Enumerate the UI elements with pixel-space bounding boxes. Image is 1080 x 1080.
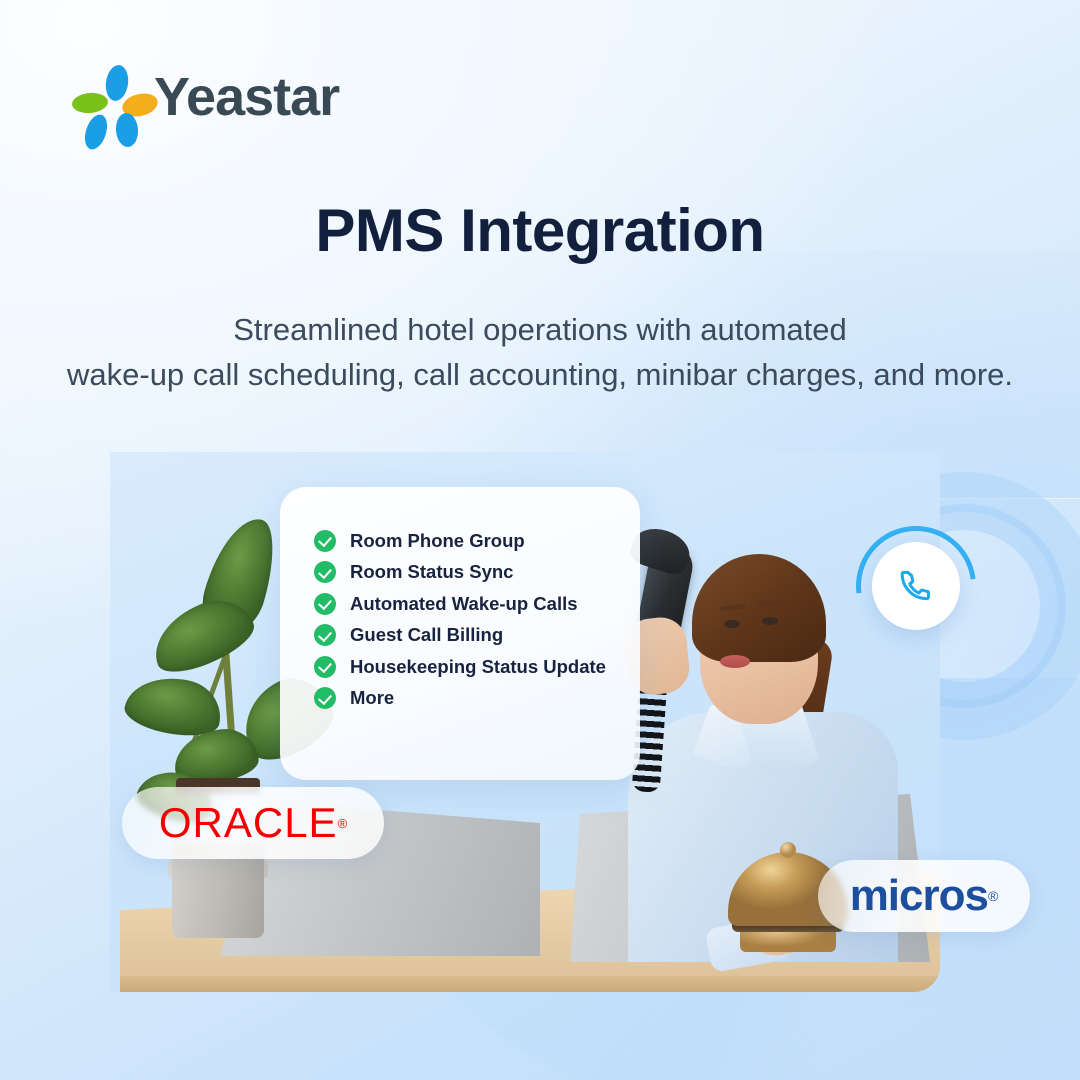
- list-item: Guest Call Billing: [314, 620, 640, 651]
- subtitle-line-1: Streamlined hotel operations with automa…: [0, 308, 1080, 353]
- eye-right: [762, 617, 778, 625]
- promo-graphic: Yeastar PMS Integration Streamlined hote…: [0, 0, 1080, 1080]
- list-item: Room Status Sync: [314, 557, 640, 588]
- feature-label: Room Phone Group: [350, 530, 525, 552]
- yeastar-pinwheel-icon: [78, 66, 140, 128]
- feature-label: Guest Call Billing: [350, 624, 503, 646]
- brand-wordmark: Yeastar: [154, 70, 339, 124]
- page-subtitle: Streamlined hotel operations with automa…: [0, 308, 1080, 398]
- feature-label: Automated Wake-up Calls: [350, 593, 578, 615]
- eye-left: [724, 620, 740, 628]
- check-circle-icon: [314, 624, 336, 646]
- hair: [692, 554, 826, 662]
- subtitle-line-2: wake-up call scheduling, call accounting…: [0, 353, 1080, 398]
- brand-logo[interactable]: Yeastar: [78, 66, 339, 128]
- check-circle-icon: [314, 593, 336, 615]
- partner-badge-oracle: ORACLE®: [122, 787, 384, 859]
- phone-handset-icon: [898, 568, 934, 604]
- oracle-trademark: ®: [338, 816, 348, 831]
- check-circle-icon: [314, 656, 336, 678]
- lips: [720, 655, 750, 668]
- list-item: More: [314, 683, 640, 714]
- micros-wordmark: micros: [850, 874, 988, 918]
- feature-list-card: Room Phone Group Room Status Sync Automa…: [280, 487, 640, 780]
- feature-label: Room Status Sync: [350, 561, 513, 583]
- check-circle-icon: [314, 530, 336, 552]
- list-item: Room Phone Group: [314, 525, 640, 556]
- partner-badge-micros: micros®: [818, 860, 1030, 932]
- check-circle-icon: [314, 561, 336, 583]
- oracle-wordmark: ORACLE: [159, 802, 338, 844]
- page-title: PMS Integration: [0, 196, 1080, 265]
- feature-label: Housekeeping Status Update: [350, 656, 606, 678]
- phone-badge: [872, 542, 960, 630]
- list-item: Housekeeping Status Update: [314, 651, 640, 682]
- feature-label: More: [350, 687, 394, 709]
- desk-edge: [110, 976, 940, 992]
- micros-trademark: ®: [988, 888, 998, 904]
- check-circle-icon: [314, 687, 336, 709]
- list-item: Automated Wake-up Calls: [314, 588, 640, 619]
